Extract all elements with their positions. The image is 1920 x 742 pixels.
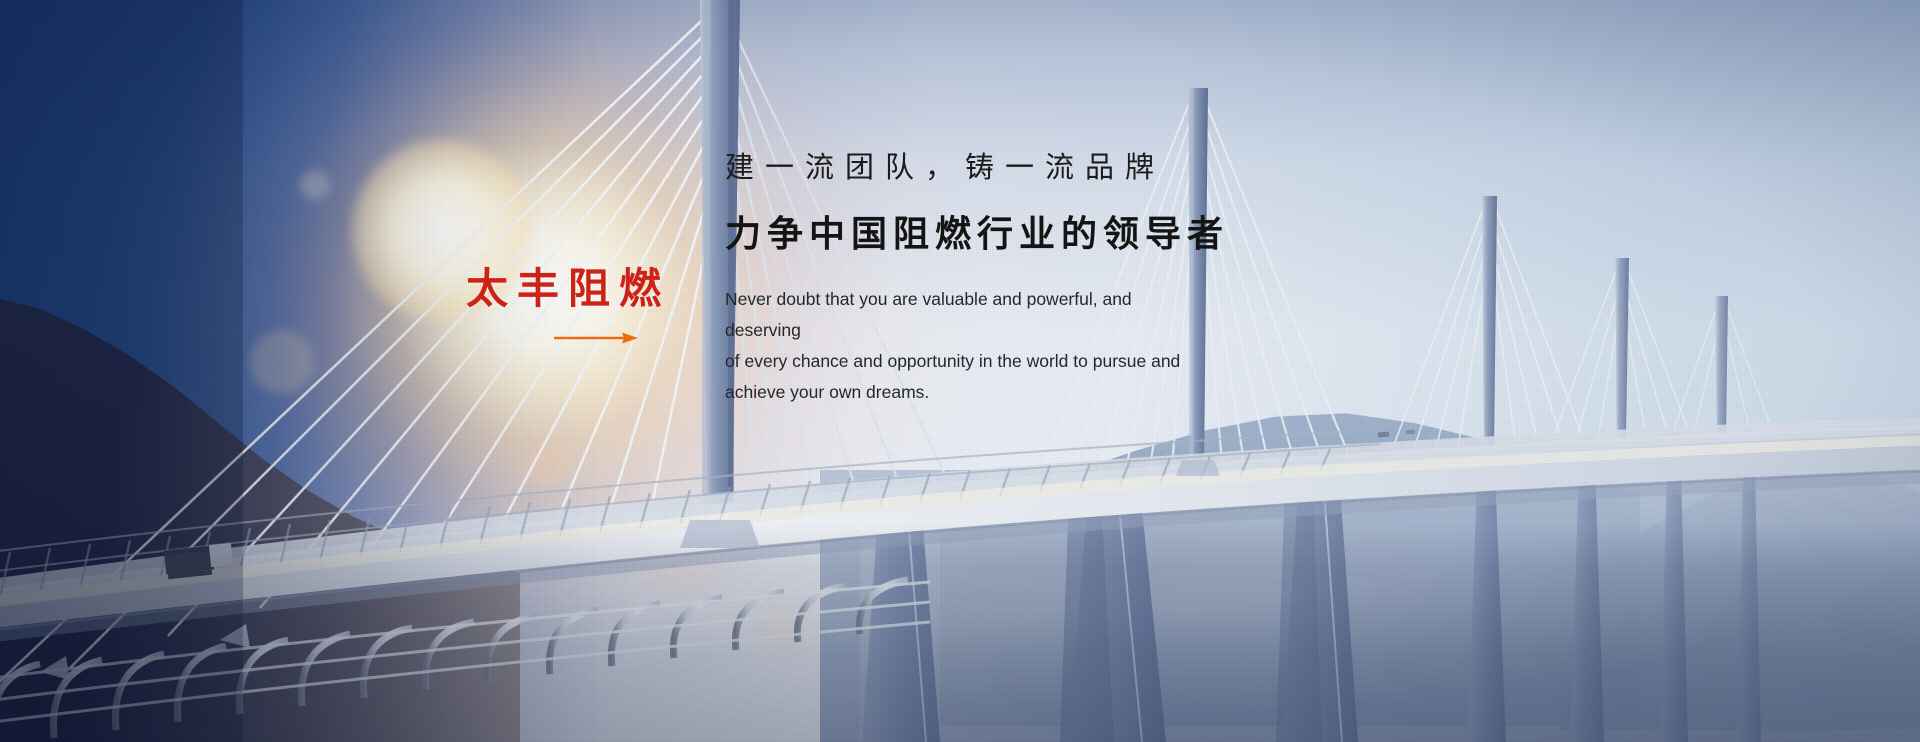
brand-logo-text: 太丰阻燃 — [466, 268, 670, 310]
right-arrow-icon — [554, 332, 638, 344]
description-line-1: Never doubt that you are valuable and po… — [725, 284, 1195, 346]
headline-block: 建一流团队，铸一流品牌 力争中国阻燃行业的领导者 Never doubt tha… — [725, 150, 1445, 409]
hero-banner: 太丰阻燃 建一流团队，铸一流品牌 力争中国阻燃行业的领导者 Never doub… — [0, 0, 1920, 742]
description-line-3: achieve your own dreams. — [725, 377, 1195, 408]
banner-title: 力争中国阻燃行业的领导者 — [725, 213, 1445, 256]
banner-description: Never doubt that you are valuable and po… — [725, 284, 1195, 409]
banner-subtitle: 建一流团队，铸一流品牌 — [725, 150, 1445, 185]
brand-logo[interactable]: 太丰阻燃 — [466, 268, 670, 344]
banner-content: 太丰阻燃 建一流团队，铸一流品牌 力争中国阻燃行业的领导者 Never doub… — [0, 0, 1920, 742]
description-line-2: of every chance and opportunity in the w… — [725, 346, 1195, 377]
